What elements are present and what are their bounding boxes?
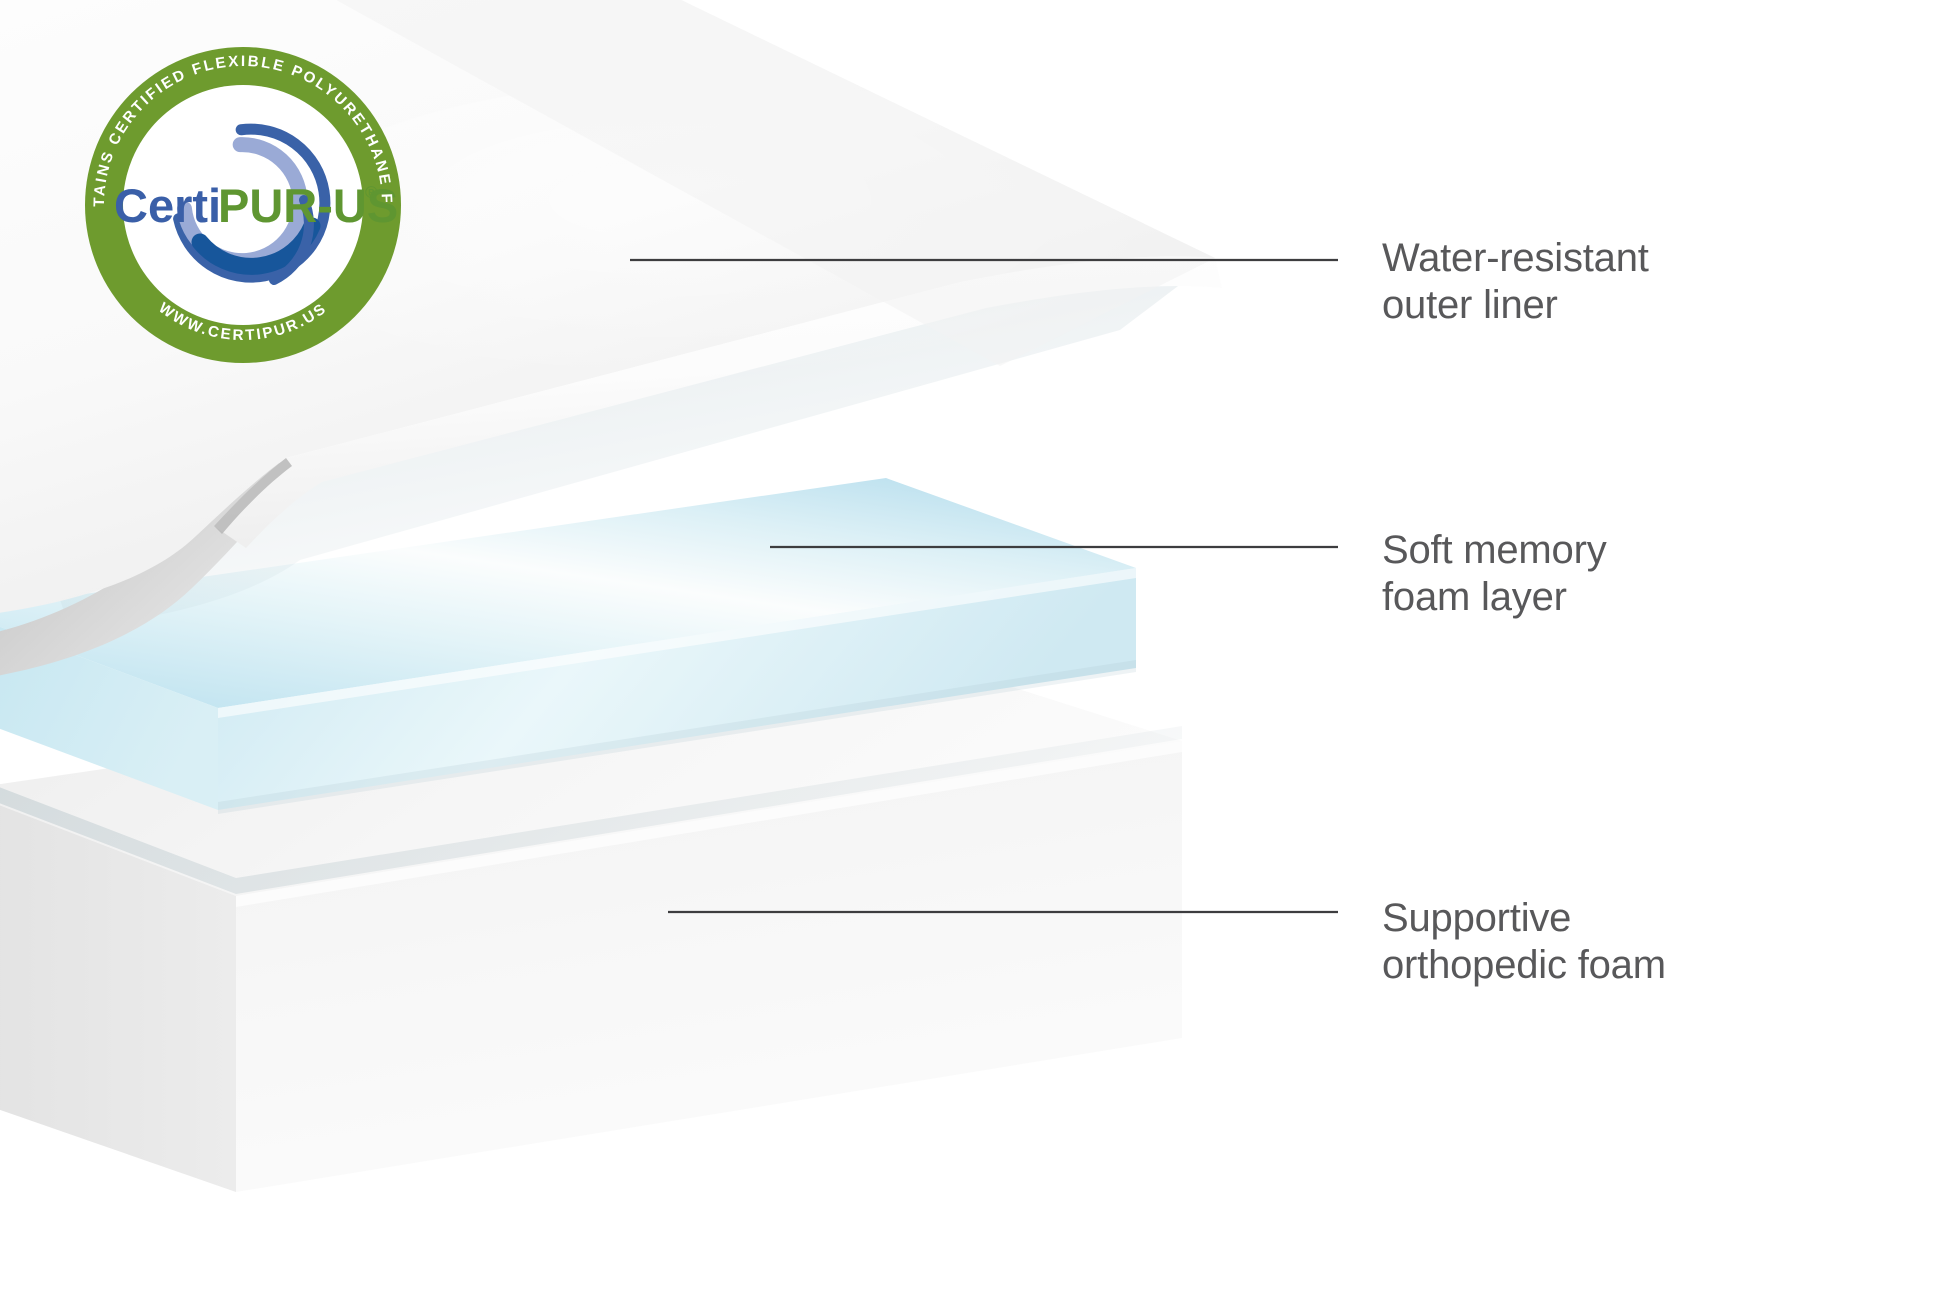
badge-wordmark: Certi PUR-US ®	[114, 179, 398, 232]
badge-wordmark-certi: Certi	[114, 179, 221, 232]
certipur-us-badge: Certi PUR-US ® CONTAINS CERTIFIED FLEXIB…	[68, 30, 418, 380]
callout-label-supportive-orthopedic-foam: Supportive orthopedic foam	[1382, 895, 1666, 989]
certipur-us-seal-icon: Certi PUR-US ® CONTAINS CERTIFIED FLEXIB…	[68, 30, 418, 380]
badge-registered-mark: ®	[365, 183, 378, 202]
diagram-canvas: Certi PUR-US ® CONTAINS CERTIFIED FLEXIB…	[0, 0, 1946, 1298]
callout-label-soft-memory-foam-layer: Soft memory foam layer	[1382, 527, 1607, 621]
callout-label-water-resistant-outer-liner: Water-resistant outer liner	[1382, 235, 1649, 329]
